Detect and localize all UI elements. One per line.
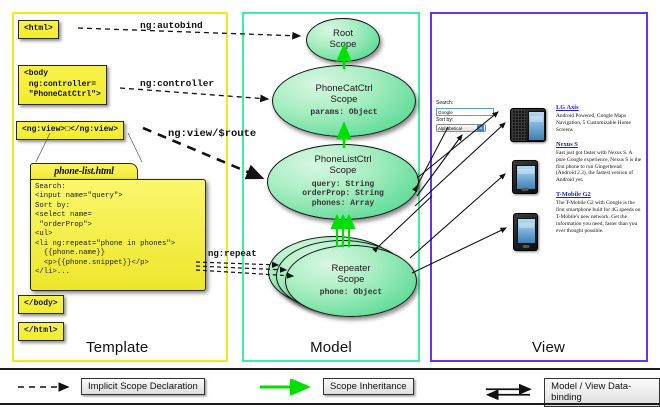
phone-home-button [522,245,529,248]
scope-phonelistctrl-name: PhoneListCtrlScope [314,155,371,176]
template-file-card: phone-list.html Search: <input name="que… [30,163,206,291]
code-box-body-close: </body> [18,295,64,314]
legend-label-scope-inheritance: Scope Inheritance [323,378,414,395]
code-box-ngview: <ng:view>□</ng:view> [16,121,124,140]
wire-label-ng-view-route: ng:view/$route [168,128,256,140]
template-file-tab: phone-list.html [30,163,138,180]
phone-link-nexus-s[interactable]: Nexus S [556,141,642,148]
phone-snippet-lg-axis: Android Powered, Google Maps Navigation,… [556,113,642,134]
sort-select[interactable]: Alphabetical ⇅ [436,124,486,132]
sort-label: Sort by: [436,117,498,124]
legend-item-data-binding: Model / View Data-binding [484,378,660,407]
scope-root: RootScope [306,18,380,62]
panel-model-label: Model [244,339,418,356]
wire-label-ng-controller: ng:controller [140,78,214,89]
template-file-code: Search: <input name="query"> Sort by: <s… [30,179,206,291]
phone-screen [517,218,536,244]
code-box-html-close: </html> [18,322,64,341]
scope-phonecatctrl: PhoneCatCtrlScope params: Object [272,65,416,137]
phone-link-t-mobile-g2[interactable]: T-Mobile G2 [556,191,642,198]
panel-template-label: Template [14,339,226,356]
code-box-body-open: <body ng:controller= "PhoneCatCtrl"> [18,65,107,105]
legend-icon-green-arrow [258,379,318,395]
template-file-name: phone-list.html [31,164,137,179]
phone-link-lg-axis[interactable]: LG Axis [556,104,642,111]
phone-screen [516,165,536,190]
scope-repeater-name: RepeaterScope [331,264,370,285]
view-phone-list: LG Axis Android Powered, Google Maps Nav… [556,104,642,242]
scope-repeater-props: phone: Object [320,288,382,298]
sort-select-value: Alphabetical [438,125,462,132]
chevron-updown-icon: ⇅ [477,125,484,132]
phone-keyboard [512,110,526,142]
phone-thumbnail-lg-axis [510,108,546,142]
phone-snippet-t-mobile-g2: The T-Mobile G2 with Google is the first… [556,200,642,235]
scope-phonecatctrl-props: params: Object [310,108,377,118]
scope-repeater: RepeaterScope phone: Object [285,245,417,317]
phone-thumbnail-nexus-s [512,160,538,194]
panel-view-label: View [432,339,646,356]
scope-phonelistctrl-props: query: String orderProp: String phones: … [302,180,384,209]
legend: Implicit Scope Declaration Scope Inherit… [0,372,660,405]
wire-label-ng-repeat: ng:repeat [208,249,257,259]
wire-label-ng-autobind: ng:autobind [140,20,203,31]
scope-phonelistctrl: PhoneListCtrlScope query: String orderPr… [267,144,419,220]
legend-icon-dashed-arrow [16,379,76,395]
scope-root-name: RootScope [330,29,357,50]
phone-snippet-nexus-s: Fast just got faster with Nexus S. A pur… [556,150,642,185]
legend-label-implicit-scope: Implicit Scope Declaration [81,378,205,395]
legend-icon-double-arrow [484,384,539,400]
phone-home-button [522,188,529,191]
search-label: Search: [436,100,498,107]
scope-phonecatctrl-name: PhoneCatCtrlScope [315,84,372,105]
search-input[interactable]: Google [436,108,494,116]
legend-label-data-binding: Model / View Data-binding [544,378,660,407]
legend-item-scope-inheritance: Scope Inheritance [258,378,414,395]
diagram-canvas: Template <html> <body ng:controller= "Ph… [0,0,660,405]
legend-item-implicit-scope: Implicit Scope Declaration [16,378,205,395]
code-box-html-open: <html> [18,20,59,39]
view-search-form: Search: Google Sort by: Alphabetical ⇅ [436,100,498,133]
phone-thumbnail-t-mobile-g2 [513,213,538,251]
phone-screen [528,111,545,141]
